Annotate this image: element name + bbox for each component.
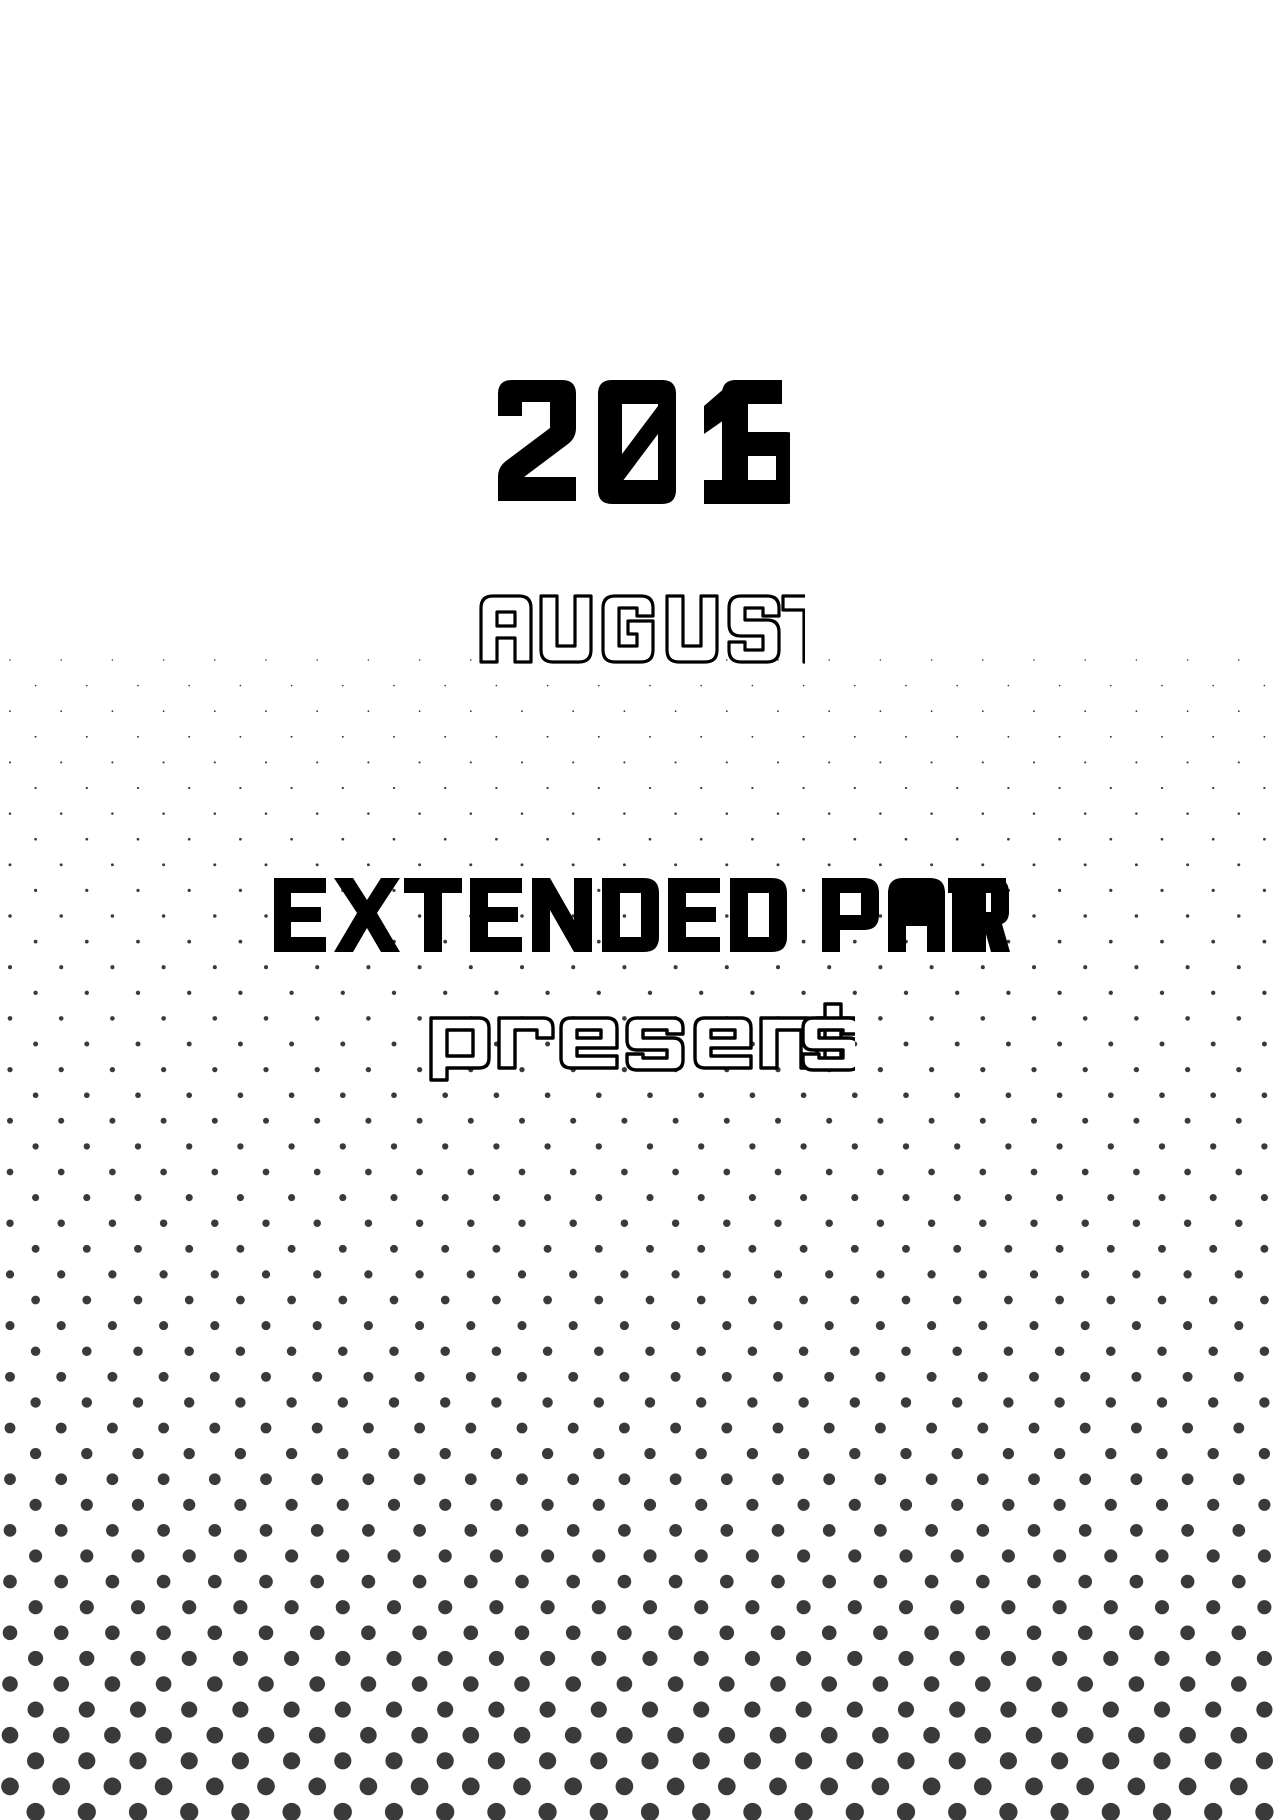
year-glyphs	[490, 372, 790, 512]
title-page	[0, 0, 1280, 1820]
tagline-glyphs	[425, 1000, 855, 1082]
year-heading	[0, 372, 1280, 516]
month-glyphs	[475, 588, 805, 668]
studio-heading	[0, 872, 1280, 962]
month-heading	[0, 588, 1280, 672]
studio-glyphs	[270, 872, 1010, 958]
tagline-heading	[0, 1000, 1280, 1086]
